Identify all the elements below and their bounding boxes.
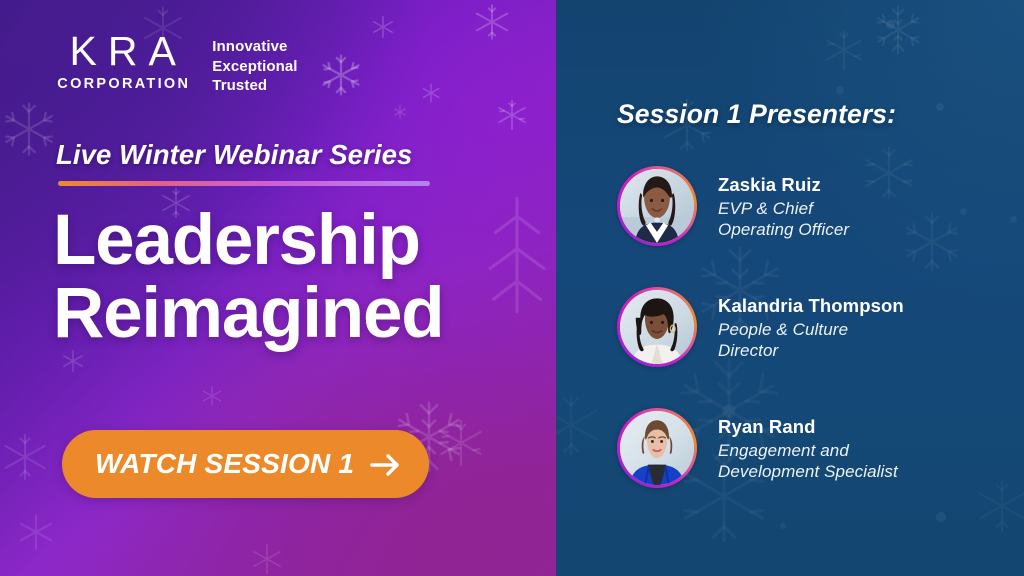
series-kicker: Live Winter Webinar Series <box>56 139 412 171</box>
presenter-title-line-1: People & Culture <box>718 319 904 340</box>
headshot-kalandria-thompson <box>620 290 694 364</box>
presenter-info: Ryan Rand Engagement and Development Spe… <box>718 415 898 482</box>
avatar <box>617 166 697 246</box>
avatar <box>617 408 697 488</box>
left-purple-panel: KRA CORPORATION Innovative Exceptional T… <box>0 0 556 576</box>
snowflake-icon <box>250 542 284 576</box>
presenter-title-line-2: Development Specialist <box>718 461 898 482</box>
webinar-promo-banner: KRA CORPORATION Innovative Exceptional T… <box>0 0 1024 576</box>
snowflake-icon <box>0 432 50 482</box>
snow-dot-icon <box>836 86 844 94</box>
snowflake-icon <box>0 100 58 158</box>
presenter-info: Kalandria Thompson People & Culture Dire… <box>718 294 904 361</box>
snowflake-icon <box>370 14 396 40</box>
gradient-divider <box>58 181 430 186</box>
snowflake-icon <box>318 52 364 98</box>
watch-session-1-button[interactable]: WATCH SESSION 1 <box>62 430 429 498</box>
presenter-title-line-1: Engagement and <box>718 440 898 461</box>
snow-dot-icon <box>780 523 786 529</box>
snowflake-icon <box>392 104 408 120</box>
tagline-line-3: Trusted <box>212 76 297 96</box>
headline-line-2: Reimagined <box>53 277 523 350</box>
logo-wordmark: KRA CORPORATION <box>55 30 190 94</box>
snow-dot-icon <box>886 20 895 29</box>
presenter-title: EVP & Chief Operating Officer <box>718 198 849 240</box>
presenter-name: Ryan Rand <box>718 415 898 438</box>
presenter-title-line-1: EVP & Chief <box>718 198 849 219</box>
snowflake-icon <box>556 392 604 458</box>
presenter-title: People & Culture Director <box>718 319 904 361</box>
presenter-info: Zaskia Ruiz EVP & Chief Operating Office… <box>718 173 849 240</box>
headshot-ryan-rand <box>620 411 694 485</box>
presenter-item: Zaskia Ruiz EVP & Chief Operating Office… <box>617 166 1017 246</box>
headline-line-1: Leadership <box>53 204 523 277</box>
presenter-item: Ryan Rand Engagement and Development Spe… <box>617 408 1017 488</box>
arrow-right-icon <box>370 452 400 478</box>
presenter-title: Engagement and Development Specialist <box>718 440 898 482</box>
logo-kra-text: KRA <box>58 30 186 72</box>
snow-dot-icon <box>936 103 944 111</box>
presenter-title-line-2: Director <box>718 340 904 361</box>
snowflake-icon <box>16 512 56 552</box>
right-navy-panel: Session 1 Presenters: <box>556 0 1024 576</box>
snow-dot-icon <box>936 512 946 522</box>
page-title: Leadership Reimagined <box>53 204 523 350</box>
tagline-line-2: Exceptional <box>212 57 297 77</box>
snowflake-icon <box>420 82 442 104</box>
logo-corporation-text: CORPORATION <box>55 75 190 94</box>
snowflake-icon <box>872 4 924 56</box>
avatar <box>617 287 697 367</box>
tagline-line-1: Innovative <box>212 37 297 57</box>
snowflake-icon <box>472 2 512 42</box>
cta-label: WATCH SESSION 1 <box>95 448 354 480</box>
snowflake-icon <box>495 98 529 132</box>
presenters-heading: Session 1 Presenters: <box>617 99 896 130</box>
presenter-name: Kalandria Thompson <box>718 294 904 317</box>
presenter-name: Zaskia Ruiz <box>718 173 849 196</box>
headshot-zaskia-ruiz <box>620 169 694 243</box>
snowflake-icon <box>436 418 486 468</box>
snowflake-icon <box>822 28 866 72</box>
kra-logo: KRA CORPORATION Innovative Exceptional T… <box>55 30 298 96</box>
snowflake-icon <box>200 384 224 408</box>
presenter-title-line-2: Operating Officer <box>718 219 849 240</box>
presenter-item: Kalandria Thompson People & Culture Dire… <box>617 287 1017 367</box>
logo-tagline: Innovative Exceptional Trusted <box>212 37 297 96</box>
